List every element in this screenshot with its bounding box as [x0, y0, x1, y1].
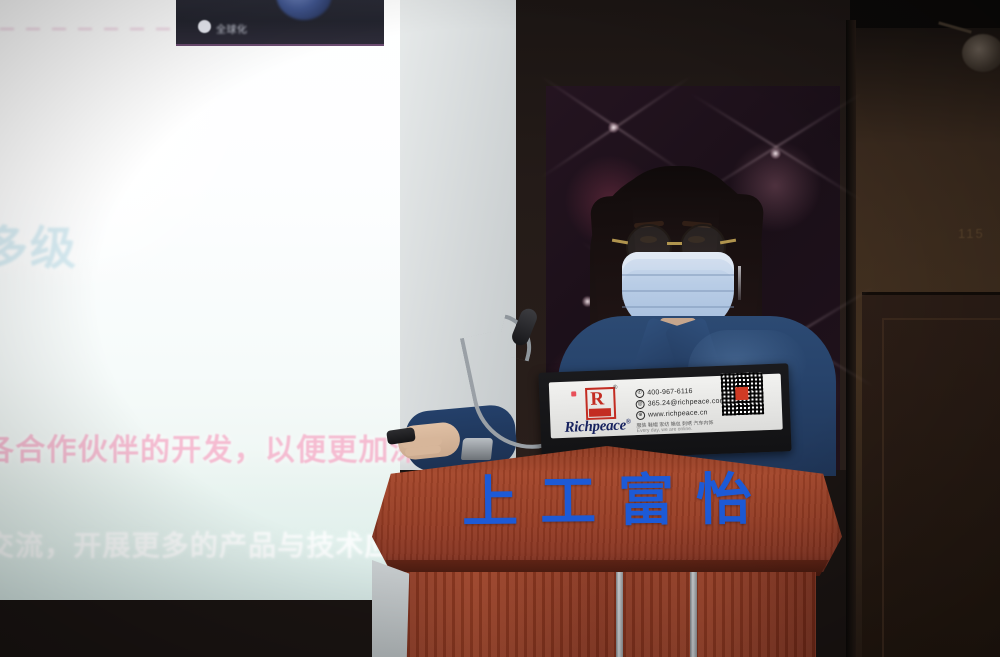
brand-wordmark: Richpeace®: [564, 417, 631, 437]
ceiling-monitor: 全球化: [176, 0, 384, 46]
slogan-line-1: Every day, we are online.: [637, 426, 693, 434]
contact-website: ⊕www.richpeace.cn: [636, 408, 708, 420]
contact-phone: ✆400-967-6116: [635, 387, 693, 398]
sticker-red-dot: [571, 391, 576, 396]
mail-icon: @: [636, 400, 645, 409]
laptop[interactable]: R ® Richpeace® ✆400-967-6116 @365.24@ric…: [538, 363, 791, 461]
door-panel: [882, 318, 1000, 657]
globe-icon: [276, 0, 332, 20]
logo-registered-mark: ®: [613, 385, 618, 391]
photo-scene: 115 多级 各合作伙伴的开发，以便更加深入 交流，开展更多的产品与技术应用合作…: [0, 0, 1000, 657]
podium-trim-strip-right: [690, 572, 697, 657]
wall-fixture-icon: [962, 34, 1000, 72]
projection-screen: [0, 0, 400, 600]
globe-small-icon: ⊕: [636, 411, 645, 420]
logo-letter: R: [590, 389, 604, 409]
podium-body: [398, 572, 816, 657]
phone-icon: ✆: [635, 389, 644, 398]
podium-trim-strip-left: [616, 572, 623, 657]
qr-code-center: [735, 387, 748, 400]
logo-cn-bar: [589, 408, 611, 417]
contact-email: @365.24@richpeace.com: [636, 397, 726, 409]
podium-body-grain: [398, 572, 816, 657]
dock-label: 全球化: [216, 21, 248, 36]
glasses-bridge: [667, 242, 682, 245]
earring-right: [738, 266, 741, 300]
richpeace-logo-icon: R: [585, 387, 616, 420]
wall-right-top-shadow: [850, 0, 1000, 28]
slide-title-text: 多级: [0, 212, 78, 278]
podium-title-text: 上工富怡: [372, 454, 843, 540]
dock-app-icon[interactable]: [198, 20, 211, 33]
door-number-label: 115: [958, 226, 985, 241]
